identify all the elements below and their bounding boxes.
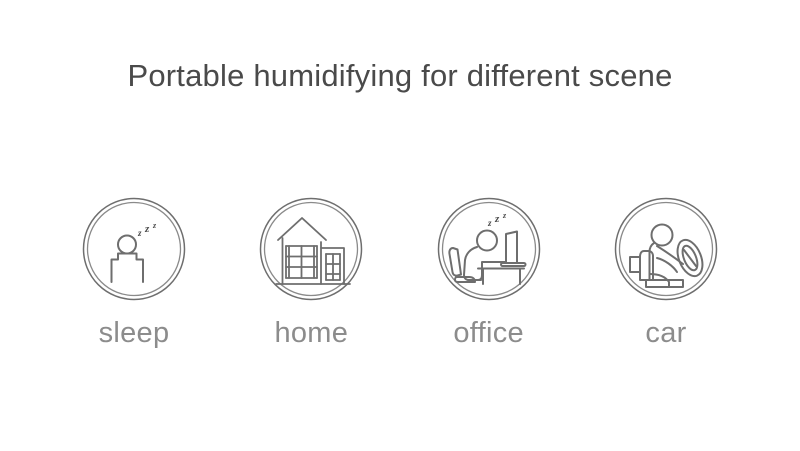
zzz-mid: z xyxy=(494,213,500,225)
zzz-large: z xyxy=(502,211,507,220)
scene-item-home[interactable]: home xyxy=(227,196,395,348)
promo-banner: Portable humidifying for different scene… xyxy=(0,0,800,451)
scene-label-sleep: sleep xyxy=(99,319,170,348)
scene-label-office: office xyxy=(453,319,524,348)
house-buildings-icon xyxy=(258,196,364,302)
scene-label-home: home xyxy=(274,319,348,348)
driver-steering-wheel-icon xyxy=(613,196,719,302)
person-at-desk-computer-icon: z z z xyxy=(436,196,542,302)
scene-item-office[interactable]: z z z office xyxy=(405,196,573,348)
zzz-small: z xyxy=(137,228,142,238)
zzz-large: z xyxy=(152,221,157,230)
sleeping-person-icon: z z z xyxy=(81,196,187,302)
scene-item-car[interactable]: car xyxy=(582,196,750,348)
zzz-small: z xyxy=(487,218,492,228)
page-title: Portable humidifying for different scene xyxy=(0,58,800,94)
zzz-mid: z xyxy=(144,223,150,235)
scene-list: z z z sleep xyxy=(50,196,750,371)
scene-item-sleep[interactable]: z z z sleep xyxy=(50,196,218,348)
scene-label-car: car xyxy=(645,319,686,348)
